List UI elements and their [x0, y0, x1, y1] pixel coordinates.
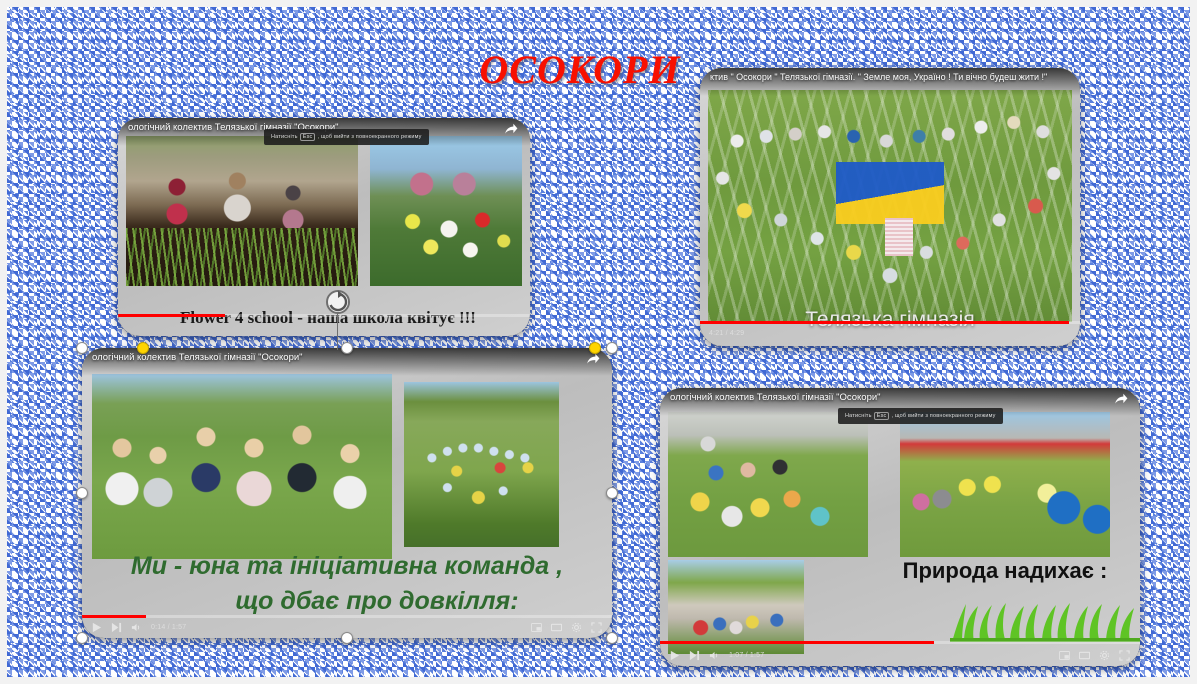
- video-title-top-right[interactable]: ктив " Осокори " Телязької гімназії. " З…: [710, 72, 1047, 82]
- photo-kids-playground: [900, 412, 1110, 557]
- esc-tooltip-before: Натисніть: [271, 134, 298, 140]
- esc-key-label: Esc: [874, 412, 890, 420]
- video-progress-bar-top-left[interactable]: [118, 314, 530, 317]
- fullscreen-icon[interactable]: [591, 622, 602, 633]
- page-margin-right: [1190, 0, 1197, 684]
- photo-kids-planting-greens: [126, 228, 358, 286]
- miniplayer-icon[interactable]: [531, 622, 542, 633]
- theater-mode-icon[interactable]: [551, 622, 562, 633]
- video-timestamp-bottom-right: 1:07 / 1:57: [729, 652, 764, 659]
- esc-tooltip-before: Натисніть: [845, 413, 872, 419]
- esc-tooltip-bottom-right: НатиснітьEsc, щоб вийти з повноекранного…: [838, 408, 1003, 424]
- photo-aerial-choir: [404, 382, 559, 547]
- play-icon[interactable]: [669, 650, 680, 661]
- video-player-zemle-moya-ukraino[interactable]: ктив " Осокори " Телязької гімназії. " З…: [700, 68, 1080, 346]
- gear-icon[interactable]: [1099, 650, 1110, 661]
- photo-kids-on-path: [668, 560, 804, 654]
- share-icon[interactable]: [586, 353, 600, 365]
- video-player-flower-4-school[interactable]: ологічний колектив Телязької гімназії "О…: [118, 118, 530, 336]
- video-title-bottom-right[interactable]: ологічний колектив Телязької гімназії "О…: [670, 392, 881, 403]
- esc-tooltip-after: , щоб вийти з повноекранного режиму: [891, 413, 995, 419]
- video-timestamp-top-right: 4:21 / 4:29: [709, 330, 744, 337]
- presentation-slide-canvas: ОСОКОРИ ологічний колектив Телязької гім…: [0, 0, 1197, 684]
- video-timestamp-mid-left: 0:14 / 1:57: [151, 624, 186, 631]
- play-icon[interactable]: [91, 622, 102, 633]
- video-caption-line1: Ми - юна та ініціативна команда ,: [90, 553, 604, 579]
- page-margin-bottom: [0, 677, 1197, 684]
- rotate-handle-icon[interactable]: [325, 289, 351, 315]
- esc-key-label: Esc: [300, 133, 316, 141]
- video-title-mid-left[interactable]: ологічний колектив Телязької гімназії "О…: [92, 352, 303, 363]
- video-player-pryroda-nadykhaye[interactable]: Природа надихає : ологічний колектив Тел…: [660, 388, 1140, 666]
- video-caption-line2: що дбає про довкілля:: [142, 588, 612, 614]
- fullscreen-icon[interactable]: [1119, 650, 1130, 661]
- progress-played: [118, 314, 225, 317]
- esc-tooltip-after: , щоб вийти з повноекранного режиму: [317, 134, 421, 140]
- volume-icon[interactable]: [709, 650, 720, 661]
- volume-icon[interactable]: [131, 622, 142, 633]
- next-track-icon[interactable]: [689, 650, 700, 661]
- page-margin-left: [0, 0, 7, 684]
- video-controls-bottom-right[interactable]: 1:07 / 1:57: [660, 644, 1140, 666]
- slide-title: ОСОКОРИ: [420, 46, 740, 93]
- photo-pink-mat: [885, 218, 913, 256]
- page-margin-top: [0, 0, 1197, 7]
- gear-icon[interactable]: [571, 622, 582, 633]
- next-track-icon[interactable]: [111, 622, 122, 633]
- photo-children-row: [708, 90, 1072, 322]
- grass-graphic-icon: [950, 600, 1140, 642]
- photo-picnic-on-grass: [668, 412, 868, 557]
- theater-mode-icon[interactable]: [1079, 650, 1090, 661]
- video-controls-mid-left[interactable]: 0:14 / 1:57: [82, 616, 612, 638]
- photo-children-vyshyvanka: [92, 374, 392, 559]
- photo-spring-flowers: [370, 136, 522, 286]
- miniplayer-icon[interactable]: [1059, 650, 1070, 661]
- video-player-yuna-komanda[interactable]: Ми - юна та ініціативна команда , що дба…: [82, 348, 612, 638]
- esc-tooltip-top-left: НатиснітьEsc, щоб вийти з повноекранного…: [264, 129, 429, 145]
- share-icon[interactable]: [1114, 393, 1128, 405]
- video-caption-pryroda: Природа надихає :: [840, 558, 1140, 584]
- video-controls-top-right[interactable]: 4:21 / 4:29: [700, 322, 1080, 344]
- share-icon[interactable]: [504, 123, 518, 135]
